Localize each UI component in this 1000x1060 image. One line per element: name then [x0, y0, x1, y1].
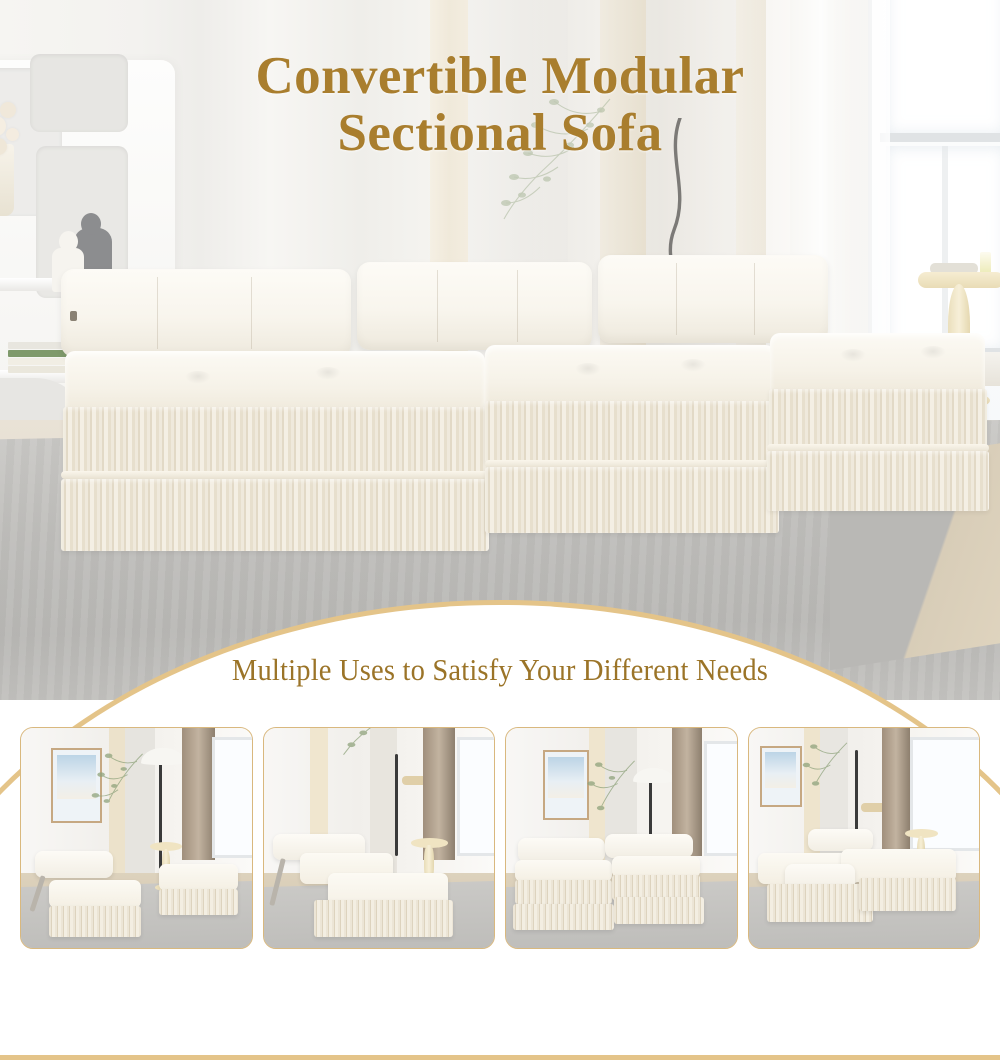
section-subtitle: Multiple Uses to Satisfy Your Different … — [40, 652, 960, 688]
seat-cushion — [485, 345, 775, 407]
thumb-backrest — [808, 829, 873, 851]
backrest-bolster — [598, 255, 828, 343]
pleated-skirt — [769, 389, 987, 447]
thumb-base-skirt — [513, 904, 614, 930]
product-marketing-image: Convertible Modular Sectional Sofa Multi… — [0, 0, 1000, 1000]
fabric-tag — [70, 311, 77, 321]
thumb-seat-top — [612, 856, 700, 878]
page-title: Convertible Modular Sectional Sofa — [0, 48, 1000, 161]
thumb-seat-top — [49, 880, 141, 909]
pleated-skirt — [485, 401, 777, 463]
thumb-backrest — [518, 838, 606, 862]
thumb-seat-top — [515, 860, 612, 882]
thumb-plant-icon — [799, 741, 854, 798]
pleated-skirt — [767, 451, 989, 511]
thumb-seat-skirt — [515, 880, 612, 904]
thumb-curtain — [182, 728, 214, 860]
thumbnail-config-chair-ottoman[interactable] — [20, 727, 253, 949]
seat-cushion — [65, 351, 485, 413]
title-line-1: Convertible Modular — [256, 47, 745, 105]
sectional-sofa — [45, 255, 955, 560]
thumb-window — [704, 741, 737, 855]
thumbnail-config-sofa[interactable] — [505, 727, 738, 949]
title-line-2: Sectional Sofa — [0, 105, 1000, 162]
thumb-window — [457, 737, 495, 856]
pleated-skirt — [485, 467, 779, 533]
thumb-seat-skirt — [49, 906, 141, 937]
thumb-bed-skirt — [314, 900, 452, 937]
thumb-plant-icon — [582, 759, 642, 825]
thumb-bed-skirt — [767, 884, 873, 921]
seat-cushion — [770, 333, 985, 395]
thumb-wall-art — [760, 746, 801, 808]
thumb-ottoman-top — [159, 864, 237, 890]
thumb-ottoman-skirt — [159, 889, 237, 915]
pleated-skirt — [61, 479, 489, 551]
thumb-backrest — [35, 851, 113, 877]
thumbnail-config-bed[interactable] — [748, 727, 981, 949]
backrest-bolster — [61, 269, 351, 357]
thumb-backrest — [605, 834, 693, 858]
pleated-skirt — [63, 407, 487, 475]
thumb-plant-icon — [333, 727, 384, 761]
thumb-seat-skirt — [612, 875, 700, 899]
thumb-bed-skirt — [859, 878, 956, 911]
thumbnail-config-chaise-lounger[interactable] — [263, 727, 496, 949]
table-item-glass — [980, 252, 991, 274]
hero-product-photo: Convertible Modular Sectional Sofa — [0, 0, 1000, 700]
thumb-lamp-cord — [395, 754, 398, 855]
thumb-window — [212, 737, 252, 858]
thumb-base-skirt — [614, 897, 704, 923]
configuration-thumbnail-row — [20, 727, 980, 949]
welt-trim — [61, 471, 489, 479]
backrest-bolster — [357, 262, 592, 350]
